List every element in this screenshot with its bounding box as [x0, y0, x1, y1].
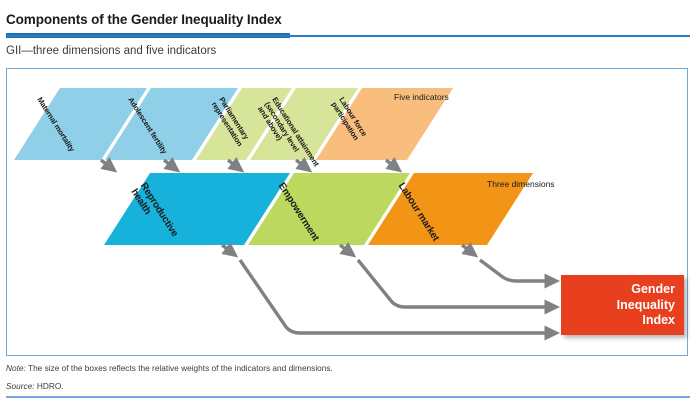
figure-note-text: The size of the boxes reflects the relat…	[26, 363, 333, 373]
footer-rule	[6, 396, 690, 398]
figure-source-text: HDRO.	[35, 381, 64, 391]
figure-note: Note: The size of the boxes reflects the…	[6, 363, 333, 373]
page-title: Components of the Gender Inequality Inde…	[6, 12, 282, 27]
page-subtitle: GII—three dimensions and five indicators	[6, 45, 216, 57]
caption-five-indicators: Five indicators	[394, 92, 449, 102]
figure-note-label: Note:	[6, 363, 26, 373]
title-rule-thin	[6, 35, 690, 37]
figure-page: Components of the Gender Inequality Inde…	[0, 0, 700, 402]
figure-source-label: Source:	[6, 381, 35, 391]
figure-source: Source: HDRO.	[6, 381, 64, 391]
caption-three-dimensions: Three dimensions	[487, 179, 555, 189]
gender-inequality-index-label: Gender Inequality Index	[617, 282, 675, 329]
gender-inequality-index-box: Gender Inequality Index	[561, 275, 684, 335]
